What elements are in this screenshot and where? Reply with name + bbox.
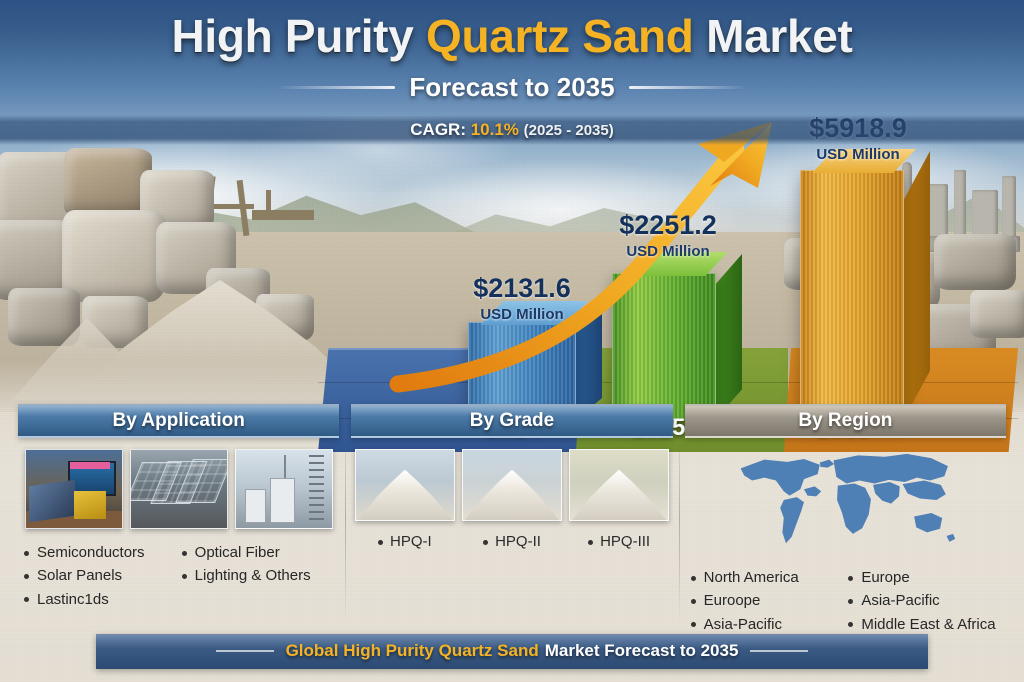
bullet-dot-icon bbox=[483, 540, 488, 545]
bullet-dot-icon bbox=[848, 599, 853, 604]
title-highlight: Quartz Sand bbox=[426, 10, 694, 62]
list-item: Lighting & Others bbox=[182, 564, 334, 587]
application-thumbnails bbox=[18, 449, 339, 529]
region-bullets-left: North America Euroope Asia-Pacific bbox=[691, 566, 843, 636]
grade-item-label: HPQ-I bbox=[390, 533, 432, 550]
subtitle: Forecast to 2035 bbox=[409, 72, 614, 103]
region-item-label: Asia-Pacific bbox=[861, 592, 939, 609]
cagr-band: CAGR: 10.1% (2025 - 2035) bbox=[0, 115, 1024, 145]
header: High Purity Quartz Sand Market Forecast … bbox=[0, 12, 1024, 145]
grade-labels: HPQ-I HPQ-II HPQ-III bbox=[351, 533, 672, 550]
region-item-label: Europe bbox=[861, 569, 909, 586]
bar-label-2024: $2131.6 USD Million bbox=[432, 275, 612, 323]
bar-unit-2025: USD Million bbox=[578, 243, 758, 260]
bar-unit-2024: USD Million bbox=[432, 306, 612, 323]
subtitle-rule-right bbox=[629, 86, 747, 89]
bullet-dot-icon bbox=[691, 599, 696, 604]
list-item: Middle East & Africa bbox=[848, 613, 1000, 636]
bullet-dot-icon bbox=[691, 576, 696, 581]
cagr-label: CAGR: bbox=[410, 120, 466, 139]
list-item: Optical Fiber bbox=[182, 541, 334, 564]
bullet-dot-icon bbox=[182, 551, 187, 556]
bar-value-2024: $2131.6 bbox=[432, 275, 612, 302]
quartz-sand-photo-2 bbox=[462, 449, 562, 521]
grade-thumbnails bbox=[351, 449, 672, 521]
list-item: Semiconductors bbox=[24, 541, 176, 564]
region-item-label: Middle East & Africa bbox=[861, 616, 995, 633]
bullet-dot-icon bbox=[848, 576, 853, 581]
region-item-label: Euroope bbox=[704, 592, 761, 609]
panel-heading-application: By Application bbox=[18, 404, 339, 438]
bar-value-2025: $2251.2 bbox=[578, 212, 758, 239]
bullet-dot-icon bbox=[848, 622, 853, 627]
application-bullets-left: Semiconductors Solar Panels Lastinc1ds bbox=[24, 541, 176, 611]
category-panels: By Application Semiconductors Solar Pane… bbox=[0, 404, 1024, 636]
bullet-dot-icon bbox=[24, 597, 29, 602]
page-title: High Purity Quartz Sand Market bbox=[0, 12, 1024, 60]
bullet-dot-icon bbox=[588, 540, 593, 545]
list-item: Asia-Pacific bbox=[691, 613, 843, 636]
optical-fiber-photo bbox=[235, 449, 333, 529]
footer-rule-left bbox=[216, 650, 274, 652]
footer-rule-right bbox=[750, 650, 808, 652]
list-item: North America bbox=[691, 566, 843, 589]
panel-heading-region: By Region bbox=[685, 404, 1006, 438]
footer-text: Global High Purity Quartz Sand Market Fo… bbox=[286, 634, 739, 668]
solar-panels-photo bbox=[130, 449, 228, 529]
application-item-label: Solar Panels bbox=[37, 567, 122, 584]
grade-item-label: HPQ-III bbox=[600, 533, 650, 550]
footer-banner: Global High Purity Quartz Sand Market Fo… bbox=[0, 634, 1024, 668]
subtitle-row: Forecast to 2035 bbox=[0, 72, 1024, 103]
panel-heading-grade: By Grade bbox=[351, 404, 672, 438]
footer-highlight: Global High Purity Quartz Sand bbox=[286, 641, 539, 661]
infographic-root: High Purity Quartz Sand Market Forecast … bbox=[0, 0, 1024, 682]
list-item: HPQ-III bbox=[566, 533, 673, 550]
semiconductor-photo bbox=[25, 449, 123, 529]
cagr-value: 10.1% bbox=[471, 120, 519, 139]
world-map bbox=[685, 446, 1006, 554]
application-bullets-right: Optical Fiber Lighting & Others bbox=[182, 541, 334, 611]
title-part-2: Market bbox=[694, 10, 853, 62]
footer-rest: Market Forecast to 2035 bbox=[545, 641, 739, 661]
region-bullets-right: Europe Asia-Pacific Middle East & Africa bbox=[848, 566, 1000, 636]
application-item-label: Semiconductors bbox=[37, 544, 145, 561]
list-item: Asia-Pacific bbox=[848, 589, 1000, 612]
bullet-dot-icon bbox=[24, 574, 29, 579]
list-item: HPQ-I bbox=[351, 533, 458, 550]
bullet-dot-icon bbox=[378, 540, 383, 545]
list-item: HPQ-II bbox=[458, 533, 565, 550]
bullet-dot-icon bbox=[24, 551, 29, 556]
list-item: Europe bbox=[848, 566, 1000, 589]
region-bullets: North America Euroope Asia-Pacific Europ… bbox=[685, 566, 1006, 636]
quartz-sand-photo-3 bbox=[569, 449, 669, 521]
quartz-sand-photo-1 bbox=[355, 449, 455, 521]
grade-item-label: HPQ-II bbox=[495, 533, 541, 550]
panel-by-grade: By Grade HPQ-I HPQ-II HPQ-III bbox=[345, 404, 678, 636]
bullet-dot-icon bbox=[691, 622, 696, 627]
list-item: Euroope bbox=[691, 589, 843, 612]
world-map-icon bbox=[686, 446, 1004, 554]
application-item-label: Optical Fiber bbox=[195, 544, 280, 561]
list-item: Solar Panels bbox=[24, 564, 176, 587]
list-item: Lastinc1ds bbox=[24, 588, 176, 611]
application-item-label: Lighting & Others bbox=[195, 567, 311, 584]
title-part-1: High Purity bbox=[171, 10, 426, 62]
subtitle-rule-left bbox=[277, 86, 395, 89]
bullet-dot-icon bbox=[182, 574, 187, 579]
bar-label-2025: $2251.2 USD Million bbox=[578, 212, 758, 260]
cagr-badge: CAGR: 10.1% (2025 - 2035) bbox=[410, 120, 613, 140]
cagr-period: (2025 - 2035) bbox=[524, 122, 614, 139]
region-item-label: Asia-Pacific bbox=[704, 616, 782, 633]
panel-by-application: By Application Semiconductors Solar Pane… bbox=[12, 404, 345, 636]
application-bullets: Semiconductors Solar Panels Lastinc1ds O… bbox=[18, 541, 339, 611]
region-item-label: North America bbox=[704, 569, 799, 586]
application-item-label: Lastinc1ds bbox=[37, 591, 109, 608]
bar-unit-2035: USD Million bbox=[768, 146, 948, 163]
panel-by-region: By Region bbox=[679, 404, 1012, 636]
